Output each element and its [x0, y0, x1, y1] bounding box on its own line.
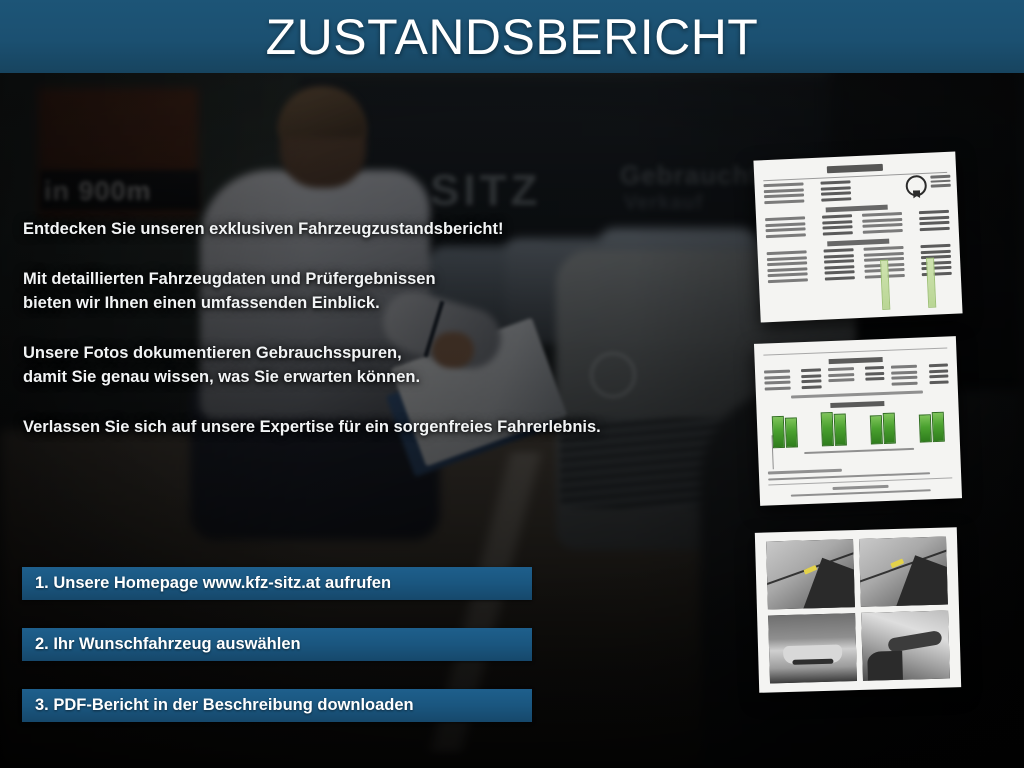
- step-label-3: 3. PDF-Bericht in der Beschreibung downl…: [22, 696, 414, 715]
- step-item-3[interactable]: 3. PDF-Bericht in der Beschreibung downl…: [22, 689, 532, 722]
- doc1-col-left: [764, 180, 852, 206]
- doc2-bar: [883, 412, 896, 443]
- doc1-heading: [827, 164, 883, 174]
- doc2-section-heading-1: [829, 357, 883, 364]
- doc1-seal-text: [930, 175, 951, 189]
- doc2-bar: [834, 413, 847, 445]
- doc1-mid-left: [765, 214, 853, 240]
- doc3-photo-grid: [755, 527, 961, 693]
- doc2-bar: [919, 414, 932, 442]
- slide-canvas: in 900m SITZ Gebrauchtwagen Verkauf ZUST…: [0, 0, 1024, 768]
- doc2-bar: [772, 415, 785, 447]
- doc1-bottom-columns: [767, 244, 952, 285]
- doc2-note-line: [791, 390, 923, 398]
- copy-paragraph-2: Mit detaillierten Fahrzeugdaten und Prüf…: [23, 268, 663, 316]
- doc2-bar: [785, 417, 798, 447]
- step-item-2[interactable]: 2. Ihr Wunschfahrzeug auswählen: [22, 628, 532, 661]
- doc2-rule-top: [763, 348, 947, 356]
- doc2-bar: [932, 411, 945, 441]
- doc2-bar-group-1: [772, 415, 798, 448]
- step-label-2: 2. Ihr Wunschfahrzeug auswählen: [22, 635, 301, 654]
- doc3-photo-1: [766, 539, 855, 609]
- doc2-bar: [870, 415, 883, 444]
- doc2-bar: [821, 411, 834, 445]
- document-card-vehicle-data-sheet[interactable]: [753, 152, 962, 323]
- document-card-2-content: [754, 336, 962, 506]
- doc3-photo-2: [859, 537, 948, 607]
- doc2-bar-group-3: [870, 412, 896, 444]
- doc2-bar-group-4: [919, 411, 945, 442]
- doc2-bar-group-2: [821, 411, 847, 446]
- body-copy: Entdecken Sie unseren exklusiven Fahrzeu…: [23, 218, 663, 440]
- doc2-section-heading-2: [830, 400, 884, 407]
- document-card-1-content: [753, 152, 962, 323]
- doc3-photo-4: [861, 610, 950, 680]
- doc1-section-heading-2: [827, 239, 889, 247]
- doc2-top-col-3: [891, 364, 948, 388]
- document-card-damage-photo-sheet[interactable]: [755, 527, 961, 693]
- doc2-chart-caption: [804, 447, 914, 454]
- doc2-top-columns: [764, 364, 949, 393]
- doc1-mid-columns: [765, 210, 950, 240]
- copy-paragraph-4: Verlassen Sie sich auf unsere Expertise …: [23, 416, 663, 440]
- doc3-photo-3: [768, 613, 857, 683]
- doc2-top-col-1: [764, 368, 821, 392]
- header-bar: ZUSTANDSBERICHT: [0, 0, 1024, 73]
- doc2-footer: [768, 464, 953, 497]
- document-card-inspection-chart-report[interactable]: [754, 336, 962, 506]
- doc1-bottom-left: [767, 248, 855, 285]
- step-item-1[interactable]: 1. Unsere Homepage www.kfz-sitz.at aufru…: [22, 567, 532, 600]
- doc1-mid-right: [862, 210, 950, 236]
- page-title: ZUSTANDSBERICHT: [266, 12, 759, 62]
- copy-paragraph-3: Unsere Fotos dokumentieren Gebrauchsspur…: [23, 342, 663, 390]
- doc1-bottom-right: [863, 244, 951, 281]
- step-list: 1. Unsere Homepage www.kfz-sitz.at aufru…: [22, 567, 532, 722]
- doc2-top-col-2: [828, 366, 885, 390]
- step-label-1: 1. Unsere Homepage www.kfz-sitz.at aufru…: [22, 574, 391, 593]
- doc2-bar-chart: [766, 407, 951, 448]
- doc1-section-heading-1: [826, 205, 888, 213]
- copy-paragraph-1: Entdecken Sie unseren exklusiven Fahrzeu…: [23, 218, 663, 242]
